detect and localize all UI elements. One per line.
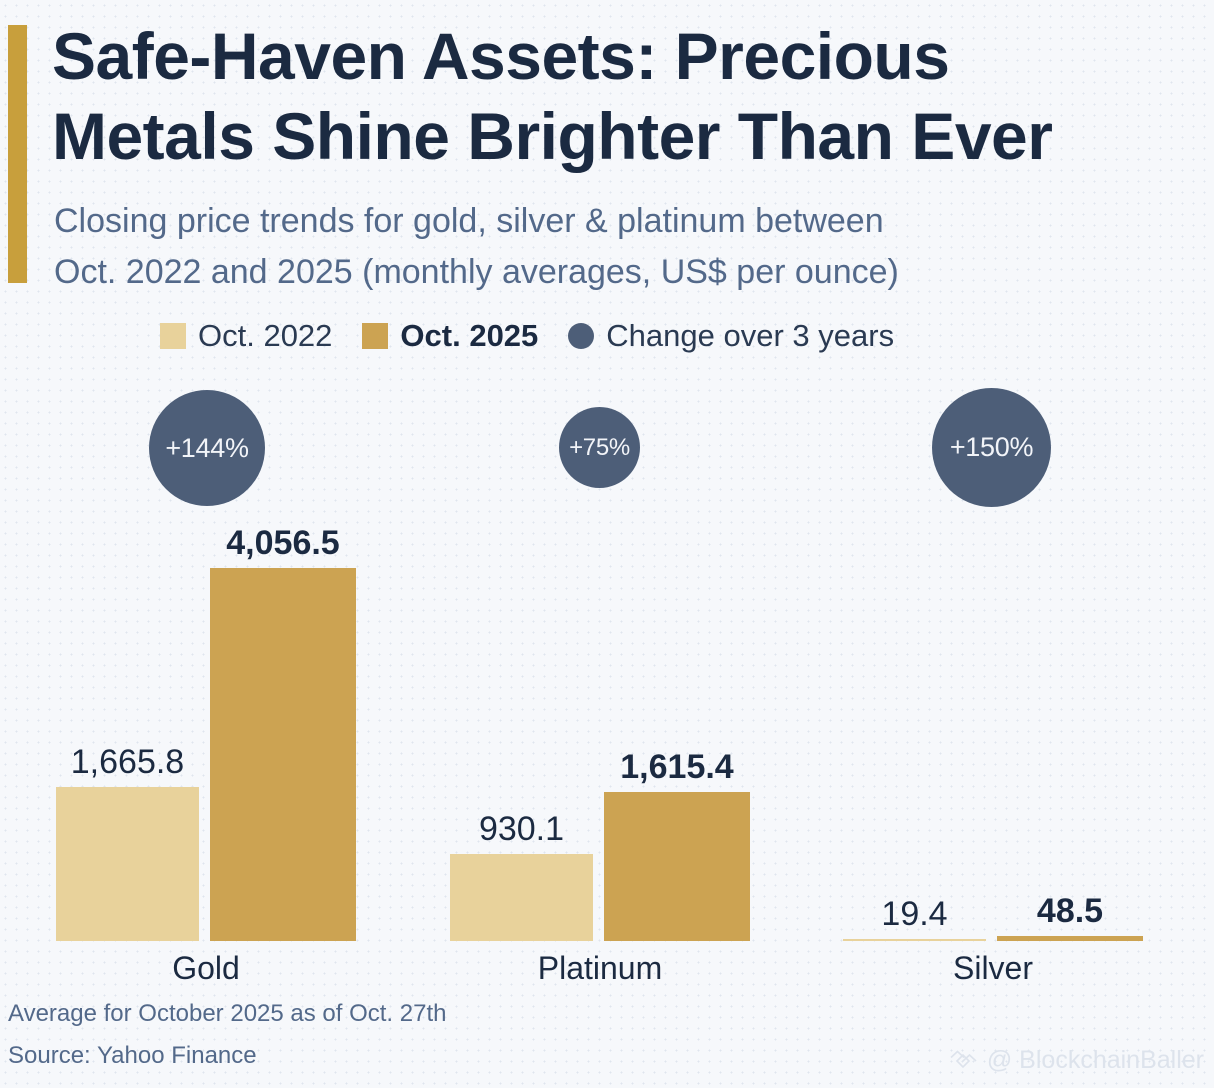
change-badge-label: +144% — [165, 433, 248, 464]
bar-gold-2025[interactable] — [210, 568, 356, 941]
change-badge-label: +150% — [950, 432, 1033, 463]
category-label-platinum: Platinum — [450, 950, 750, 987]
footnote-source: Source: Yahoo Finance — [8, 1042, 257, 1070]
change-badge-gold: +144% — [149, 390, 265, 506]
bar-value-silver-2022: 19.4 — [843, 895, 986, 934]
bar-gold-2022[interactable] — [56, 787, 199, 941]
change-badge-silver: +150% — [932, 388, 1051, 507]
bar-platinum-2025[interactable] — [604, 792, 750, 941]
bar-chart-plot: +144% 4,056.5 1,665.8 Gold +75% 1,615.4 … — [0, 0, 1214, 1088]
change-badge-label: +75% — [569, 434, 630, 462]
category-label-gold: Gold — [56, 950, 356, 987]
infographic-canvas: Safe-Haven Assets: Precious Metals Shine… — [0, 0, 1214, 1088]
bar-value-platinum-2022: 930.1 — [450, 810, 593, 849]
bar-value-gold-2025: 4,056.5 — [210, 524, 356, 563]
watermark-handle: @ BlockchainBaller — [987, 1046, 1204, 1075]
bar-value-gold-2022: 1,665.8 — [56, 743, 199, 782]
bar-value-platinum-2025: 1,615.4 — [604, 748, 750, 787]
watermark: @ BlockchainBaller — [949, 1046, 1204, 1075]
change-badge-platinum: +75% — [559, 407, 640, 488]
bar-platinum-2022[interactable] — [450, 854, 593, 941]
diamond-logo-icon — [949, 1048, 979, 1074]
bar-silver-2022[interactable] — [843, 939, 986, 941]
footnote-note: Average for October 2025 as of Oct. 27th — [8, 1000, 446, 1028]
bar-value-silver-2025: 48.5 — [997, 892, 1143, 931]
bar-silver-2025[interactable] — [997, 936, 1143, 941]
category-label-silver: Silver — [843, 950, 1143, 987]
